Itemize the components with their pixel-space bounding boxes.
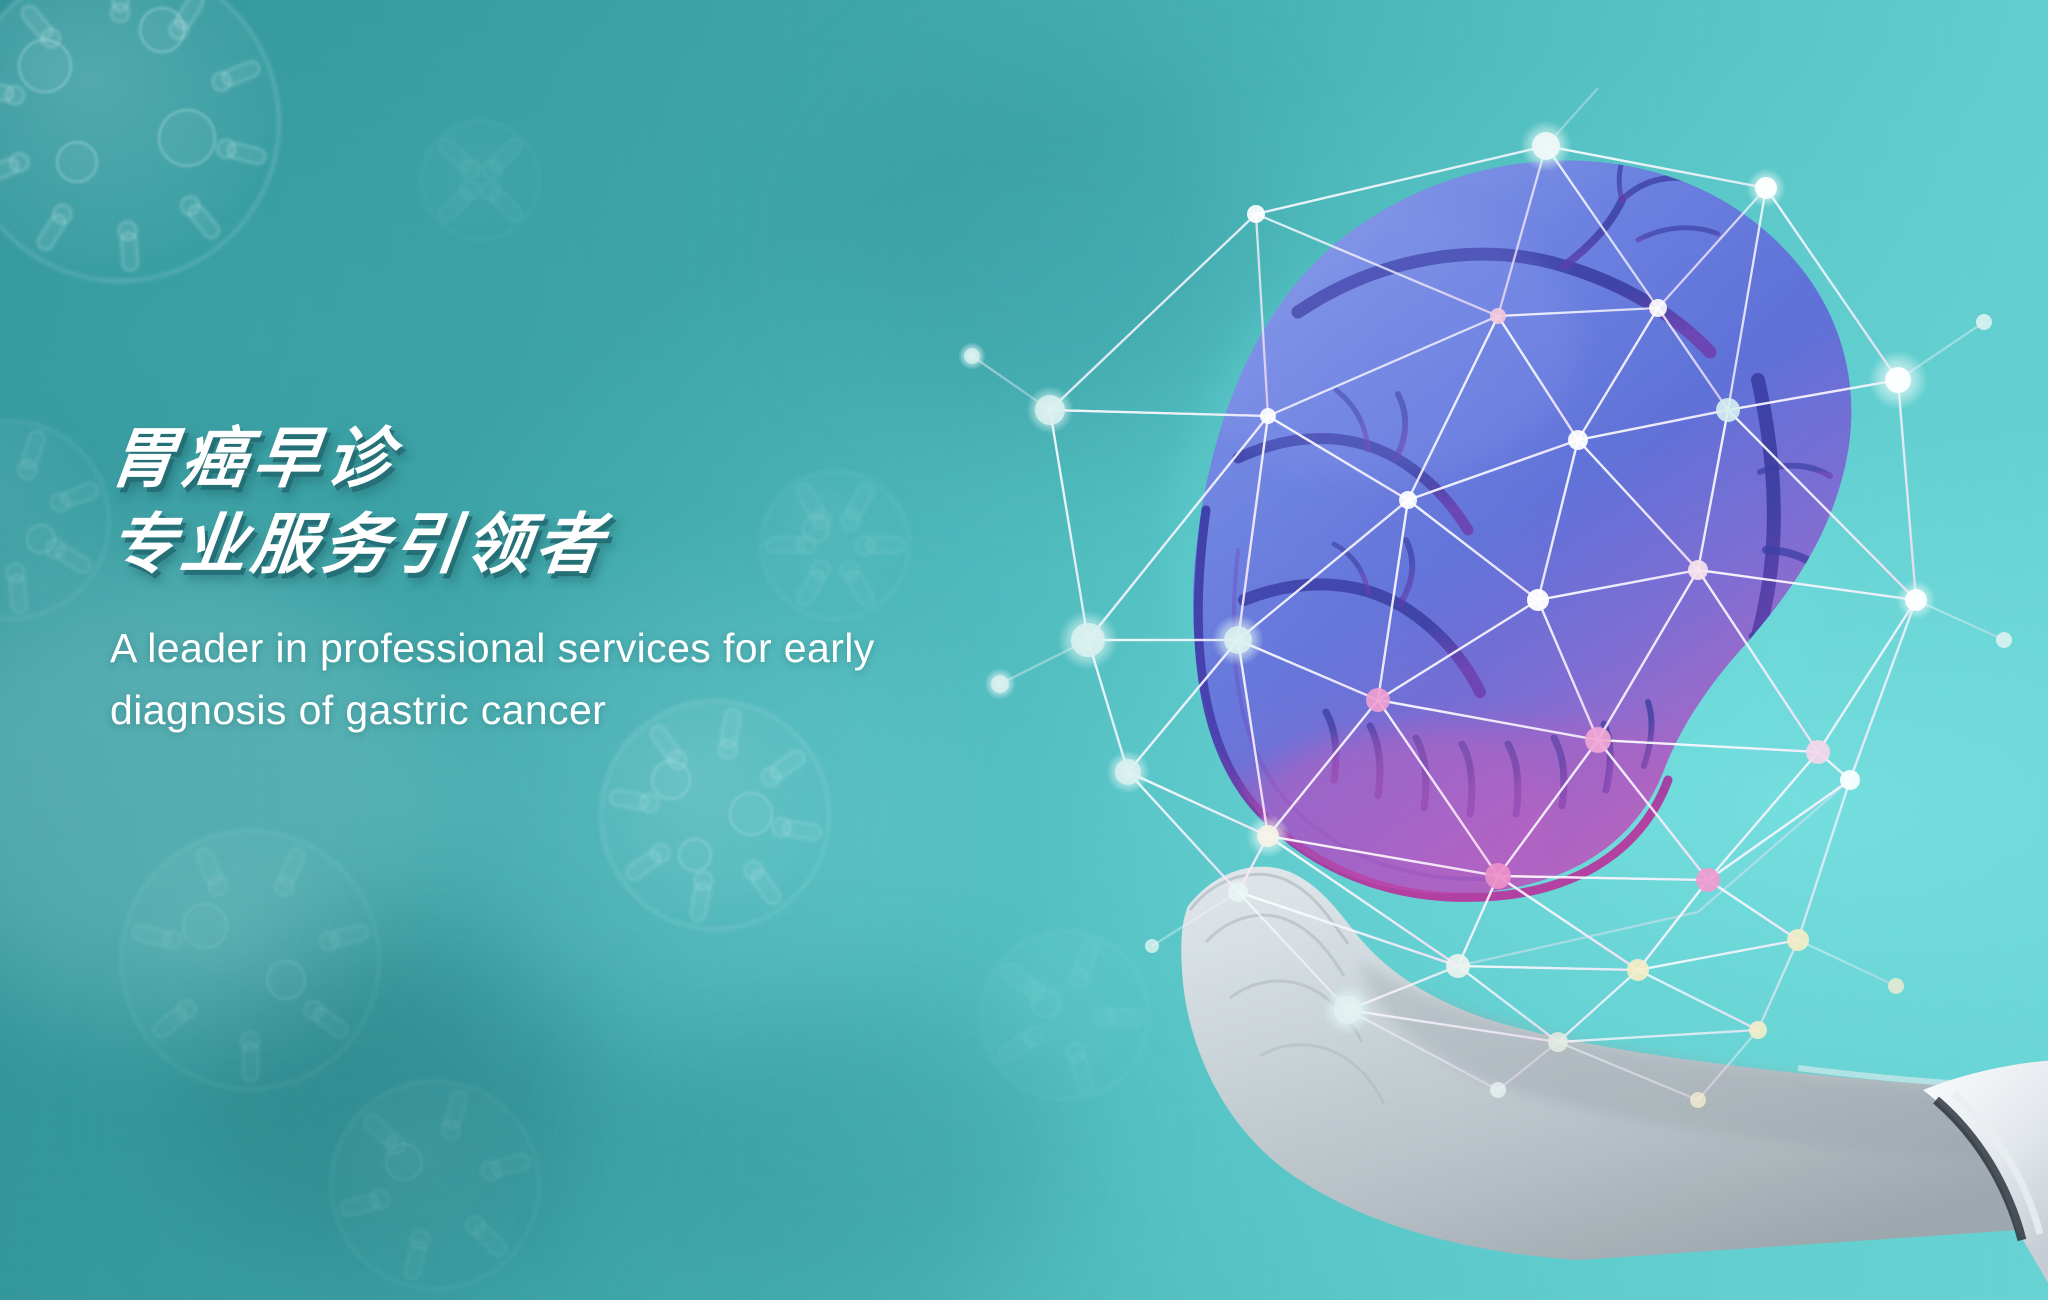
subtitle-line-1: A leader in professional services for ea… — [110, 617, 1110, 679]
subtitle: A leader in professional services for ea… — [110, 617, 1110, 741]
gastric-cancer-banner: 胃癌早诊 专业服务引领者 A leader in professional se… — [0, 0, 2048, 1300]
hand — [1181, 867, 2018, 1260]
copy-block: 胃癌早诊 专业服务引领者 A leader in professional se… — [110, 415, 1130, 741]
subtitle-line-2: diagnosis of gastric cancer — [110, 679, 1110, 741]
headline-line-1: 胃癌早诊 — [105, 415, 1136, 501]
headline-line-2: 专业服务引领者 — [105, 501, 1136, 587]
